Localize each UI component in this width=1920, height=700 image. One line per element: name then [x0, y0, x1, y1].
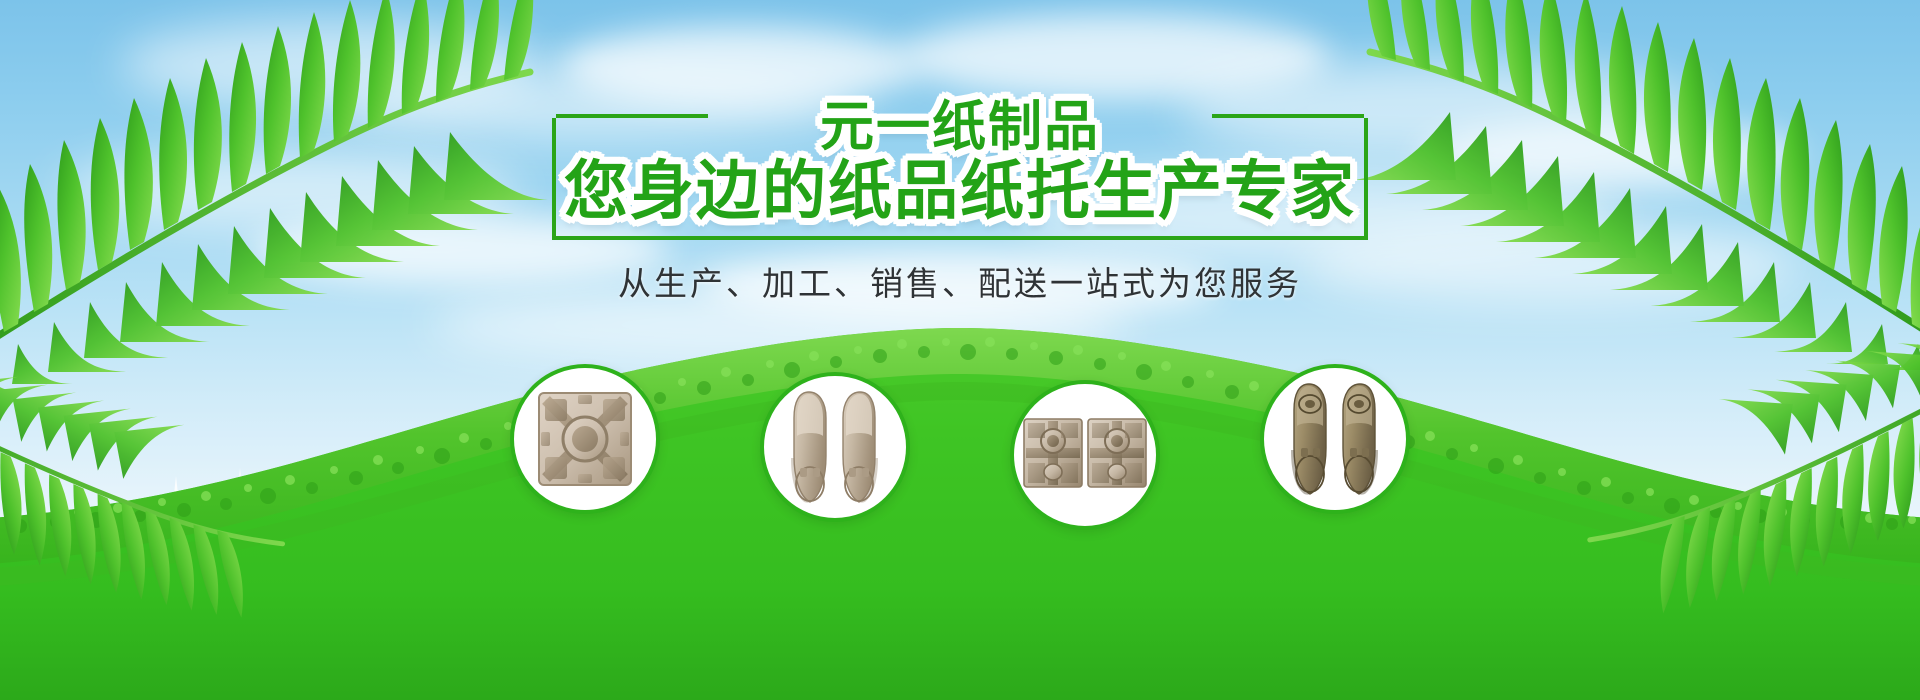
promo-banner: 元一纸制品 您身边的纸品纸托生产专家 从生产、加工、销售、配送一站式为您服务: [0, 0, 1920, 700]
subtitle: 从生产、加工、销售、配送一站式为您服务: [530, 264, 1390, 304]
pulp-shoe-tree-icon: [779, 384, 891, 510]
pulp-corner-icon: [1022, 416, 1148, 494]
product-circle-paper-pulp-corner-tray[interactable]: [510, 364, 660, 514]
product-circle-paper-pulp-shoe-tree-pair-light[interactable]: [760, 372, 910, 522]
product-circle-row: [510, 358, 1410, 508]
pulp-shoe-tree-dark-icon: [1279, 376, 1391, 502]
headline-block: 元一纸制品 您身边的纸品纸托生产专家 从生产、加工、销售、配送一站式为您服务: [530, 92, 1390, 304]
page-title: 您身边的纸品纸托生产专家: [530, 160, 1390, 224]
pulp-tray-icon: [526, 380, 644, 498]
product-circle-paper-pulp-shoe-tree-pair-dark[interactable]: [1260, 364, 1410, 514]
headline-frame: 元一纸制品 您身边的纸品纸托生产专家: [530, 92, 1390, 240]
product-circle-paper-pulp-corner-protector-pair[interactable]: [1010, 380, 1160, 530]
brand-name: 元一纸制品: [530, 100, 1390, 154]
